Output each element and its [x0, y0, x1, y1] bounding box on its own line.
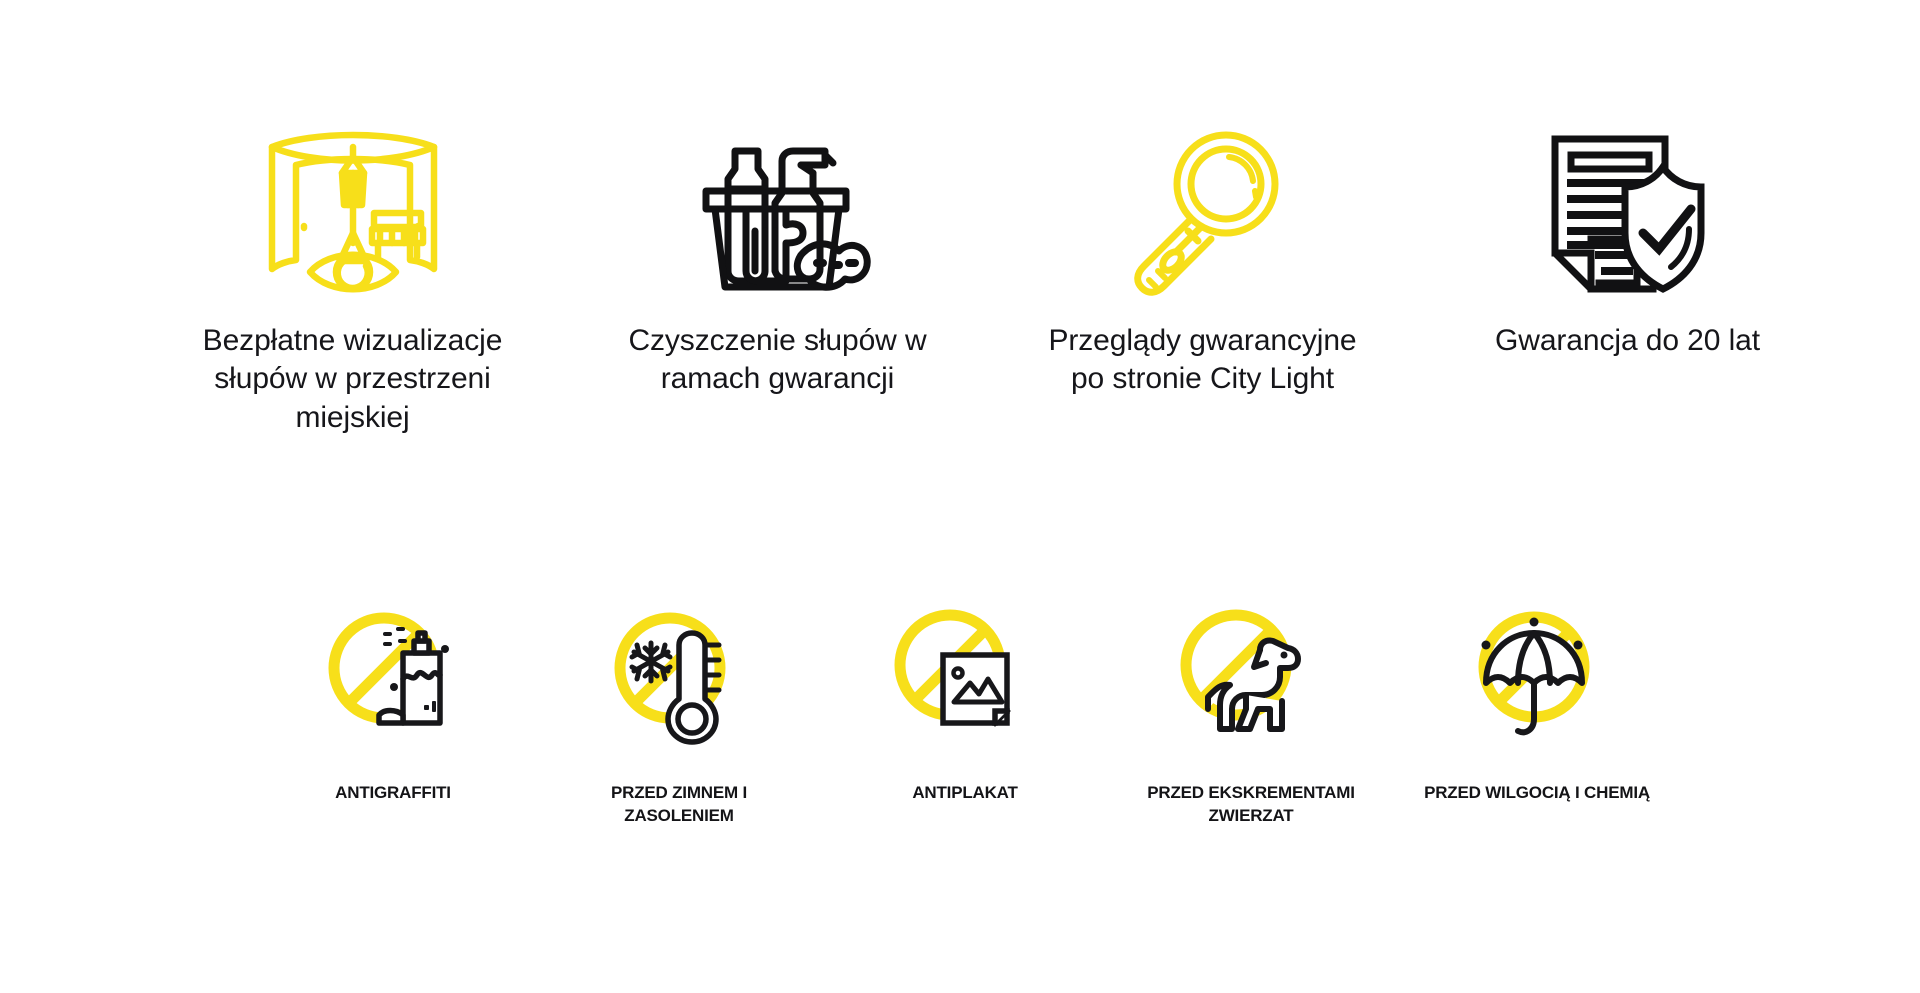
protections-row: ANTIGRAFFITI: [250, 600, 1680, 827]
feature-label: Czyszczenie słupów w ramach gwarancji: [613, 322, 943, 399]
magnifying-glass-icon: [1108, 96, 1298, 296]
document-shield-icon: [1533, 96, 1723, 296]
no-cold-thermometer-icon: [604, 600, 754, 750]
protection-label: PRZED ZIMNEM I ZASOLENIEM: [564, 782, 794, 827]
feature-label: Gwarancja do 20 lat: [1495, 322, 1760, 360]
infographic-page: Bezpłatne wizualizacje słupów w przestrz…: [0, 0, 1920, 993]
feature-label: Bezpłatne wizualizacje słupów w przestrz…: [188, 322, 518, 437]
feature-card-cleaning: Czyszczenie słupów w ramach gwarancji: [565, 96, 990, 399]
feature-card-inspection: Przeglądy gwarancyjne po stronie City Li…: [990, 96, 1415, 399]
feature-label: Przeglądy gwarancyjne po stronie City Li…: [1038, 322, 1368, 399]
feature-card-visualization: Bezpłatne wizualizacje słupów w przestrz…: [140, 96, 565, 437]
no-dog-icon: [1176, 600, 1326, 750]
protection-label: PRZED WILGOCIĄ I CHEMIĄ: [1424, 782, 1650, 805]
protection-card-cold: PRZED ZIMNEM I ZASOLENIEM: [536, 600, 822, 827]
protection-label: ANTIPLAKAT: [912, 782, 1017, 805]
protection-label: ANTIGRAFFITI: [335, 782, 451, 805]
no-poster-icon: [890, 600, 1040, 750]
feature-card-warranty: Gwarancja do 20 lat: [1415, 96, 1840, 360]
top-features-row: Bezpłatne wizualizacje słupów w przestrz…: [140, 96, 1840, 437]
protection-card-moisture: PRZED WILGOCIĄ I CHEMIĄ: [1394, 600, 1680, 805]
no-umbrella-icon: [1462, 600, 1612, 750]
protection-card-antiposter: ANTIPLAKAT: [822, 600, 1108, 805]
protection-label: PRZED EKSKREMENTAMI ZWIERZAT: [1136, 782, 1366, 827]
protection-card-antigraffiti: ANTIGRAFFITI: [250, 600, 536, 805]
protection-card-animals: PRZED EKSKREMENTAMI ZWIERZAT: [1108, 600, 1394, 827]
city-visualization-icon: [258, 96, 448, 296]
cleaning-bucket-icon: [683, 96, 873, 296]
no-spray-can-icon: [318, 600, 468, 750]
